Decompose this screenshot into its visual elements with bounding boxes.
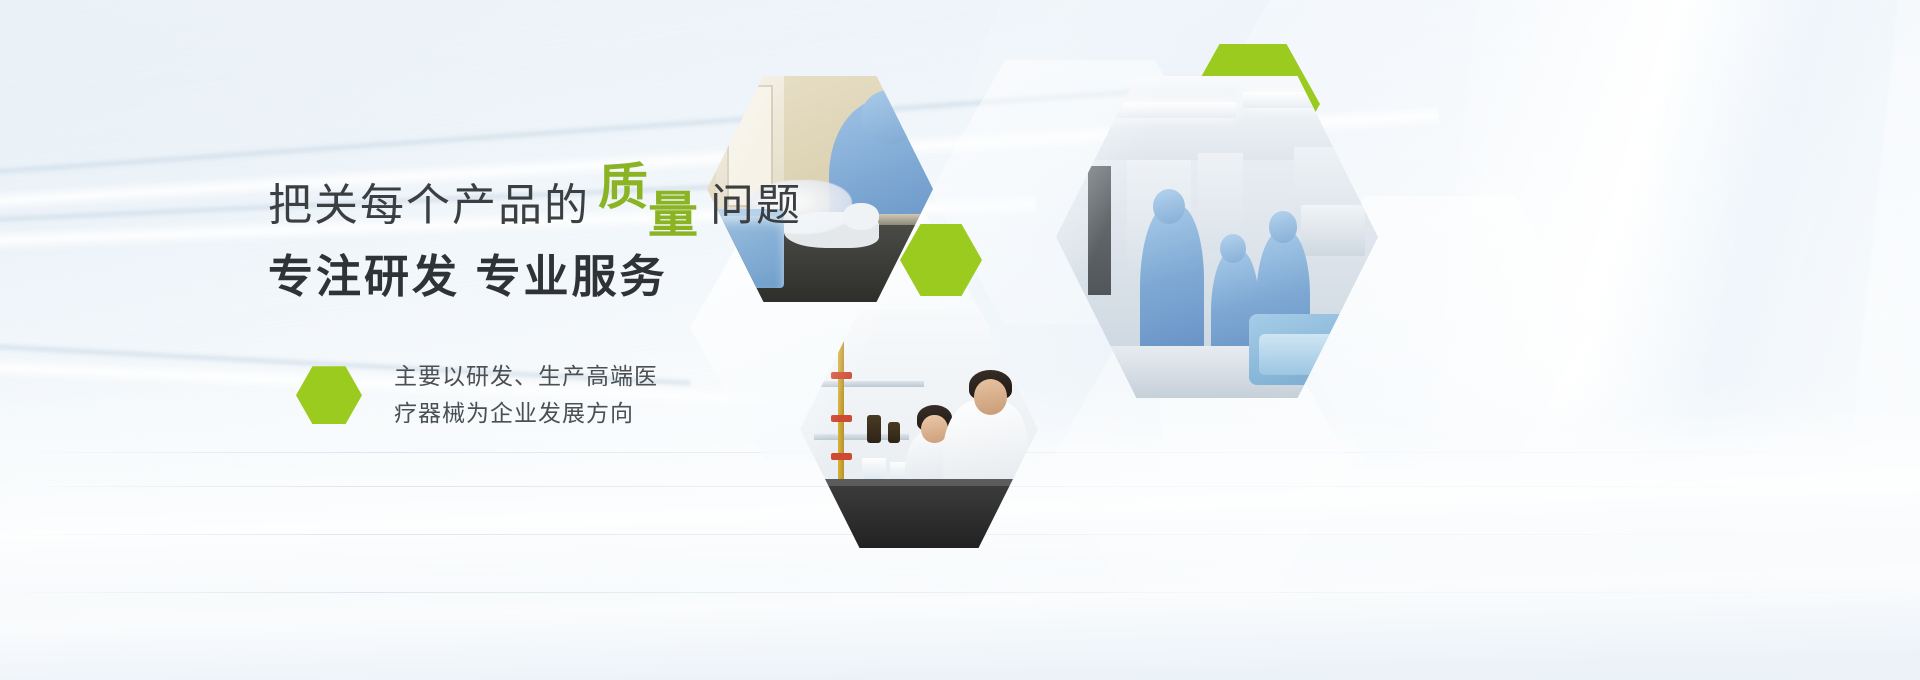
scene3-shelf-1 bbox=[814, 381, 923, 387]
hexagon-bullet-icon bbox=[296, 366, 362, 424]
scene3-reagent-bottle-2 bbox=[888, 422, 900, 443]
headline-line-2: 专注研发 专业服务 bbox=[268, 254, 802, 299]
scene3-clamp-1 bbox=[831, 372, 852, 379]
subline-line-1: 主要以研发、生产高端医 bbox=[394, 358, 658, 395]
scene3-technician-1-head bbox=[974, 379, 1007, 415]
headline-line-1: 把关每个产品的 质 量 问题 bbox=[268, 178, 802, 228]
scene2-worker-1-head bbox=[1153, 189, 1185, 224]
subline-line-2: 疗器械为企业发展方向 bbox=[394, 395, 658, 432]
scene2-worker-2-head bbox=[1220, 234, 1246, 263]
headline-part-plain-2: 问题 bbox=[710, 184, 802, 228]
hexagon-cluster bbox=[0, 0, 1920, 680]
scene1-worker-hood bbox=[861, 90, 920, 144]
headline-part-plain-1: 把关每个产品的 bbox=[268, 184, 590, 228]
subline-text: 主要以研发、生产高端医 疗器械为企业发展方向 bbox=[394, 358, 658, 433]
scene2-vertical-sign bbox=[1088, 166, 1111, 295]
scene3-clamp-3 bbox=[831, 453, 852, 460]
scene2-ceiling-light-2 bbox=[1243, 92, 1359, 108]
scene2-machine bbox=[1301, 205, 1365, 257]
scene3-bench-edge bbox=[800, 479, 1038, 486]
hero-banner: 把关每个产品的 质 量 问题 专注研发 专业服务 主要以研发、生产高端医 疗器械… bbox=[0, 0, 1920, 680]
headline-block: 把关每个产品的 质 量 问题 专注研发 专业服务 bbox=[268, 178, 802, 299]
scene1-glove bbox=[843, 203, 879, 230]
headline-part-green-2: 量 bbox=[648, 190, 698, 240]
headline-part-green-1: 质 bbox=[598, 162, 648, 212]
scene3-clamp-2 bbox=[831, 415, 852, 422]
subline-block: 主要以研发、生产高端医 疗器械为企业发展方向 bbox=[296, 358, 658, 433]
scene3-bench bbox=[800, 486, 1038, 548]
scene3-reagent-bottle-1 bbox=[867, 415, 881, 444]
